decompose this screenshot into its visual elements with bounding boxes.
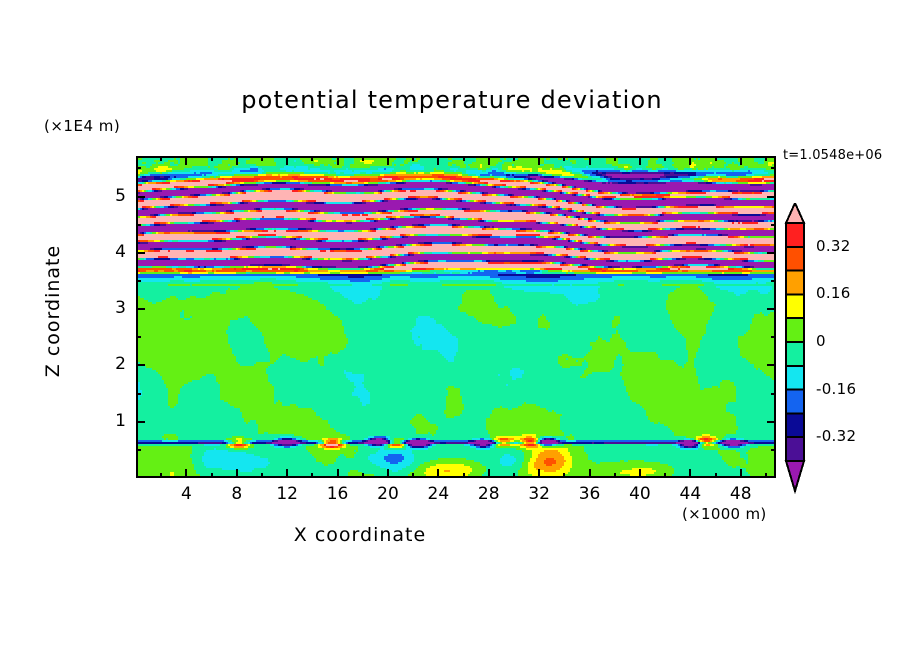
contour-plot-field xyxy=(136,156,776,478)
x-tick-mark-top xyxy=(437,156,439,165)
y-axis-unit-label: (×1E4 m) xyxy=(44,117,120,135)
x-tick-mark-top xyxy=(236,156,238,165)
y-minor-tick xyxy=(136,393,141,395)
x-minor-tick-top xyxy=(362,156,364,161)
x-minor-tick xyxy=(160,473,162,478)
x-tick-mark xyxy=(589,469,591,478)
x-minor-tick-top xyxy=(160,156,162,161)
x-tick-mark-top xyxy=(589,156,591,165)
y-tick-mark-right xyxy=(767,421,776,423)
colorbar-tick-label: 0.32 xyxy=(816,237,851,255)
y-minor-tick-right xyxy=(771,167,776,169)
x-tick-mark-top xyxy=(286,156,288,165)
x-tick-mark-top xyxy=(740,156,742,165)
y-minor-tick-right xyxy=(771,449,776,451)
x-minor-tick xyxy=(664,473,666,478)
y-tick-mark xyxy=(136,196,145,198)
x-minor-tick-top xyxy=(765,156,767,161)
y-tick-label: 4 xyxy=(86,242,126,262)
x-tick-mark xyxy=(236,469,238,478)
y-tick-label: 1 xyxy=(86,411,126,431)
x-tick-label: 48 xyxy=(711,484,771,504)
colorbar-tick-label: 0.16 xyxy=(816,284,851,302)
x-minor-tick xyxy=(765,473,767,478)
y-minor-tick-right xyxy=(771,336,776,338)
x-minor-tick xyxy=(614,473,616,478)
y-tick-mark xyxy=(136,308,145,310)
x-tick-mark xyxy=(740,469,742,478)
x-tick-mark-top xyxy=(185,156,187,165)
x-tick-mark xyxy=(437,469,439,478)
x-tick-mark-top xyxy=(538,156,540,165)
y-tick-mark xyxy=(136,252,145,254)
x-minor-tick xyxy=(715,473,717,478)
y-tick-mark-right xyxy=(767,308,776,310)
y-minor-tick xyxy=(136,167,141,169)
x-minor-tick-top xyxy=(311,156,313,161)
x-minor-tick-top xyxy=(614,156,616,161)
x-minor-tick xyxy=(261,473,263,478)
y-tick-label: 5 xyxy=(86,186,126,206)
y-tick-mark xyxy=(136,364,145,366)
colorbar-tick-label: -0.16 xyxy=(816,380,856,398)
y-minor-tick-right xyxy=(771,280,776,282)
colorbar: 0.320.160-0.16-0.32 xyxy=(782,203,892,503)
x-minor-tick-top xyxy=(463,156,465,161)
x-tick-mark xyxy=(538,469,540,478)
x-minor-tick-top xyxy=(563,156,565,161)
y-minor-tick xyxy=(136,280,141,282)
x-tick-mark xyxy=(337,469,339,478)
x-tick-mark xyxy=(286,469,288,478)
x-axis-unit-label: (×1000 m) xyxy=(682,505,767,523)
x-minor-tick-top xyxy=(412,156,414,161)
y-tick-label: 3 xyxy=(86,298,126,318)
x-tick-mark-top xyxy=(689,156,691,165)
time-annotation: t=1.0548e+06 xyxy=(783,148,882,163)
x-minor-tick xyxy=(311,473,313,478)
y-tick-mark-right xyxy=(767,364,776,366)
x-minor-tick-top xyxy=(715,156,717,161)
x-tick-mark xyxy=(488,469,490,478)
x-tick-mark xyxy=(689,469,691,478)
contour-svg xyxy=(136,156,776,478)
x-minor-tick xyxy=(463,473,465,478)
x-minor-tick xyxy=(412,473,414,478)
x-tick-mark-top xyxy=(488,156,490,165)
y-tick-label: 2 xyxy=(86,354,126,374)
x-tick-mark xyxy=(185,469,187,478)
x-tick-mark-top xyxy=(337,156,339,165)
y-minor-tick xyxy=(136,449,141,451)
x-tick-mark-top xyxy=(639,156,641,165)
x-tick-mark xyxy=(387,469,389,478)
x-minor-tick xyxy=(362,473,364,478)
x-minor-tick xyxy=(513,473,515,478)
y-minor-tick xyxy=(136,336,141,338)
x-minor-tick-top xyxy=(513,156,515,161)
y-minor-tick-right xyxy=(771,224,776,226)
y-axis-title: Z coordinate xyxy=(42,211,64,411)
y-tick-mark xyxy=(136,421,145,423)
y-tick-mark-right xyxy=(767,252,776,254)
x-tick-mark-top xyxy=(387,156,389,165)
x-minor-tick-top xyxy=(211,156,213,161)
y-tick-mark-right xyxy=(767,196,776,198)
y-minor-tick xyxy=(136,224,141,226)
colorbar-tick-label: 0 xyxy=(816,332,826,350)
x-axis-title: X coordinate xyxy=(0,524,720,546)
x-minor-tick-top xyxy=(664,156,666,161)
colorbar-tick-label: -0.32 xyxy=(816,427,856,445)
x-tick-mark xyxy=(639,469,641,478)
x-minor-tick-top xyxy=(261,156,263,161)
x-minor-tick xyxy=(563,473,565,478)
chart-title: potential temperature deviation xyxy=(0,86,904,114)
y-minor-tick-right xyxy=(771,393,776,395)
x-minor-tick xyxy=(211,473,213,478)
